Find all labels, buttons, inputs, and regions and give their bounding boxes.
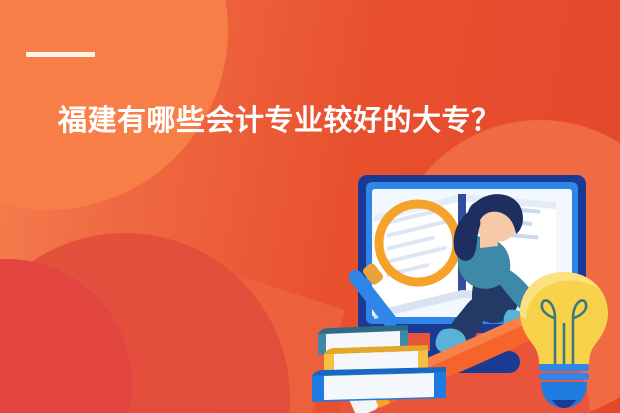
promo-banner: 福建有哪些会计专业较好的大专？ [0, 0, 620, 413]
title-divider-rule [26, 52, 95, 57]
lightbulb-icon [520, 272, 608, 408]
study-research-illustration [312, 168, 620, 413]
book-stack [312, 325, 446, 402]
page-title: 福建有哪些会计专业较好的大专？ [58, 102, 578, 140]
